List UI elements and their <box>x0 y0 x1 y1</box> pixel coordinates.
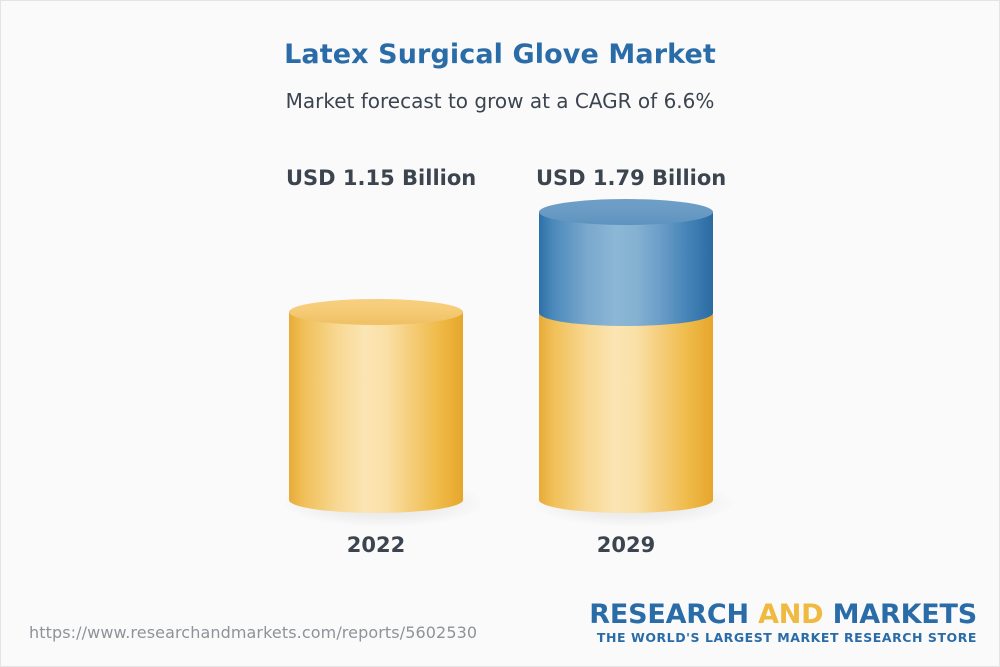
bar-cylinder-2029 <box>539 199 713 513</box>
logo-wordmark: RESEARCH AND MARKETS <box>589 601 977 629</box>
bar-2022-body <box>289 312 463 500</box>
bar-value-label-2029: USD 1.79 Billion <box>536 166 716 190</box>
logo-tagline: THE WORLD'S LARGEST MARKET RESEARCH STOR… <box>589 630 977 645</box>
bar-2029-yellow-body <box>539 313 713 500</box>
report-url[interactable]: https://www.researchandmarkets.com/repor… <box>29 623 477 642</box>
research-and-markets-logo[interactable]: RESEARCH AND MARKETS THE WORLD'S LARGEST… <box>589 601 977 645</box>
chart-plot-area: USD 1.15 Billion 2022 USD 1.79 Billion 2… <box>1 1 1000 667</box>
logo-word-research: RESEARCH <box>589 599 749 630</box>
logo-word-markets: MARKETS <box>833 599 977 630</box>
category-label-2029: 2029 <box>536 533 716 557</box>
bar-2029-blue-body <box>539 212 713 313</box>
bar-cylinder-2022 <box>289 299 463 513</box>
bar-value-label-2022: USD 1.15 Billion <box>286 166 466 190</box>
chart-canvas: Latex Surgical Glove Market Market forec… <box>0 0 1000 667</box>
category-label-2022: 2022 <box>286 533 466 557</box>
bar-2022-top-ellipse <box>289 299 463 325</box>
bar-2029-blue-top-ellipse <box>539 199 713 225</box>
logo-word-and: AND <box>758 599 823 630</box>
